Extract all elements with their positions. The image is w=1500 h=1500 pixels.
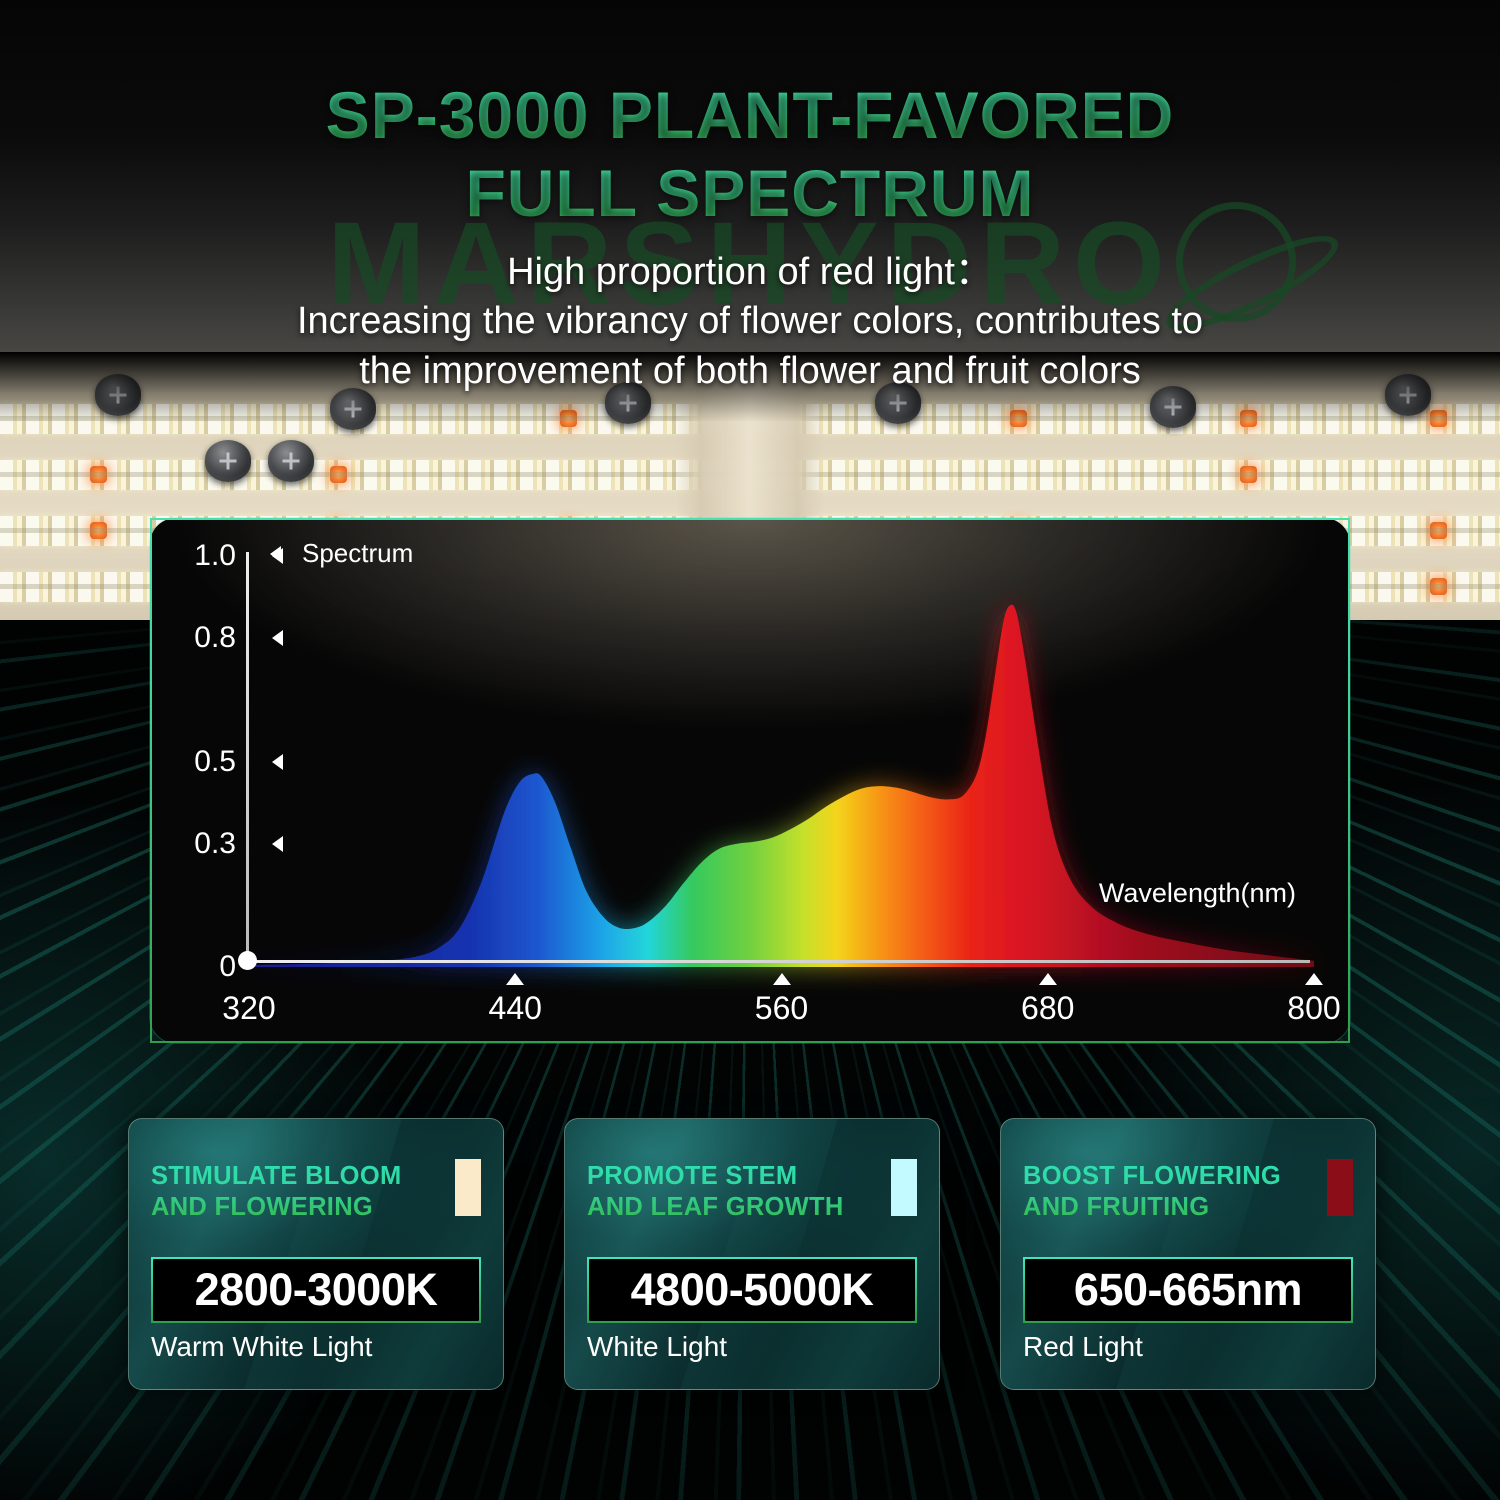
origin-marker — [238, 951, 257, 970]
led-driver-knob — [205, 440, 251, 482]
red-led-dot — [1430, 578, 1447, 595]
spectrum-area-path — [249, 605, 1314, 967]
spectrum-chart-card: Spectrum Wavelength(nm) 1.00.80.50.30 32… — [150, 518, 1350, 1043]
spectrum-chart: Spectrum Wavelength(nm) 1.00.80.50.30 32… — [152, 520, 1348, 1041]
header: SP-3000 PLANT-FAVORED FULL SPECTRUM High… — [0, 0, 1500, 396]
feature-card-group: STIMULATE BLOOM AND FLOWERING 2800-3000K… — [128, 1118, 1376, 1390]
subtitle-line2: Increasing the vibrancy of flower colors… — [0, 297, 1500, 346]
feature-footnote: White Light — [587, 1331, 727, 1363]
feature-value-box: 4800-5000K — [587, 1257, 917, 1323]
y-axis-tick-label: 0.5 — [158, 745, 236, 779]
x-axis-tick-label: 680 — [1021, 990, 1074, 1027]
y-axis-tick-arrow — [272, 836, 283, 852]
red-led-dot — [1430, 522, 1447, 539]
spectrum-curve-svg — [152, 520, 1350, 1043]
subtitle-line1: High proportion of red light： — [0, 248, 1500, 297]
red-led-dot — [90, 466, 107, 483]
led-driver-knob — [268, 440, 314, 482]
y-axis-line — [246, 552, 249, 961]
feature-value-box: 2800-3000K — [151, 1257, 481, 1323]
feature-value-box: 650-665nm — [1023, 1257, 1353, 1323]
page-title-line2: FULL SPECTRUM — [0, 160, 1500, 226]
feature-card-heading: PROMOTE STEM AND LEAF GROWTH — [587, 1161, 939, 1222]
feature-card[interactable]: STIMULATE BLOOM AND FLOWERING 2800-3000K… — [128, 1118, 504, 1390]
y-axis-tick-arrow — [272, 754, 283, 770]
feature-value: 2800-3000K — [195, 1264, 438, 1316]
feature-value: 650-665nm — [1074, 1264, 1302, 1316]
x-axis-tick-label: 320 — [222, 990, 275, 1027]
x-axis-title: Wavelength(nm) — [1099, 878, 1296, 909]
feature-card-heading: BOOST FLOWERING AND FRUITING — [1023, 1161, 1375, 1222]
y-axis-tick-arrow — [272, 630, 283, 646]
feature-value: 4800-5000K — [631, 1264, 874, 1316]
x-axis-tick-label: 800 — [1287, 990, 1340, 1027]
feature-card[interactable]: PROMOTE STEM AND LEAF GROWTH 4800-5000K … — [564, 1118, 940, 1390]
x-axis-tick-label: 560 — [755, 990, 808, 1027]
feature-card-heading: STIMULATE BLOOM AND FLOWERING — [151, 1161, 503, 1222]
red-led-dot — [330, 466, 347, 483]
red-led-dot — [90, 522, 107, 539]
page-title-line1: SP-3000 PLANT-FAVORED — [0, 82, 1500, 148]
feature-footnote: Red Light — [1023, 1331, 1143, 1363]
x-axis-tick-arrow — [1039, 973, 1057, 985]
feature-card[interactable]: BOOST FLOWERING AND FRUITING 650-665nm R… — [1000, 1118, 1376, 1390]
x-axis-tick-arrow — [773, 973, 791, 985]
x-axis-line — [246, 960, 1310, 963]
y-axis-tick-arrow — [272, 548, 283, 564]
y-axis-tick-label: 0.8 — [158, 621, 236, 655]
subtitle-line3: the improvement of both flower and fruit… — [0, 347, 1500, 396]
x-axis-tick-label: 440 — [489, 990, 542, 1027]
y-axis-tick-label: 1.0 — [158, 539, 236, 573]
x-axis-tick-arrow — [1305, 973, 1323, 985]
feature-footnote: Warm White Light — [151, 1331, 372, 1363]
color-swatch — [891, 1159, 917, 1216]
y-axis-title: Spectrum — [302, 538, 413, 569]
y-axis-tick-label: 0 — [158, 950, 236, 984]
red-led-dot — [1240, 466, 1257, 483]
y-axis-tick-label: 0.3 — [158, 827, 236, 861]
subtitle-block: High proportion of red light： Increasing… — [0, 248, 1500, 396]
color-swatch — [455, 1159, 481, 1216]
color-swatch — [1327, 1159, 1353, 1216]
x-axis-tick-arrow — [506, 973, 524, 985]
